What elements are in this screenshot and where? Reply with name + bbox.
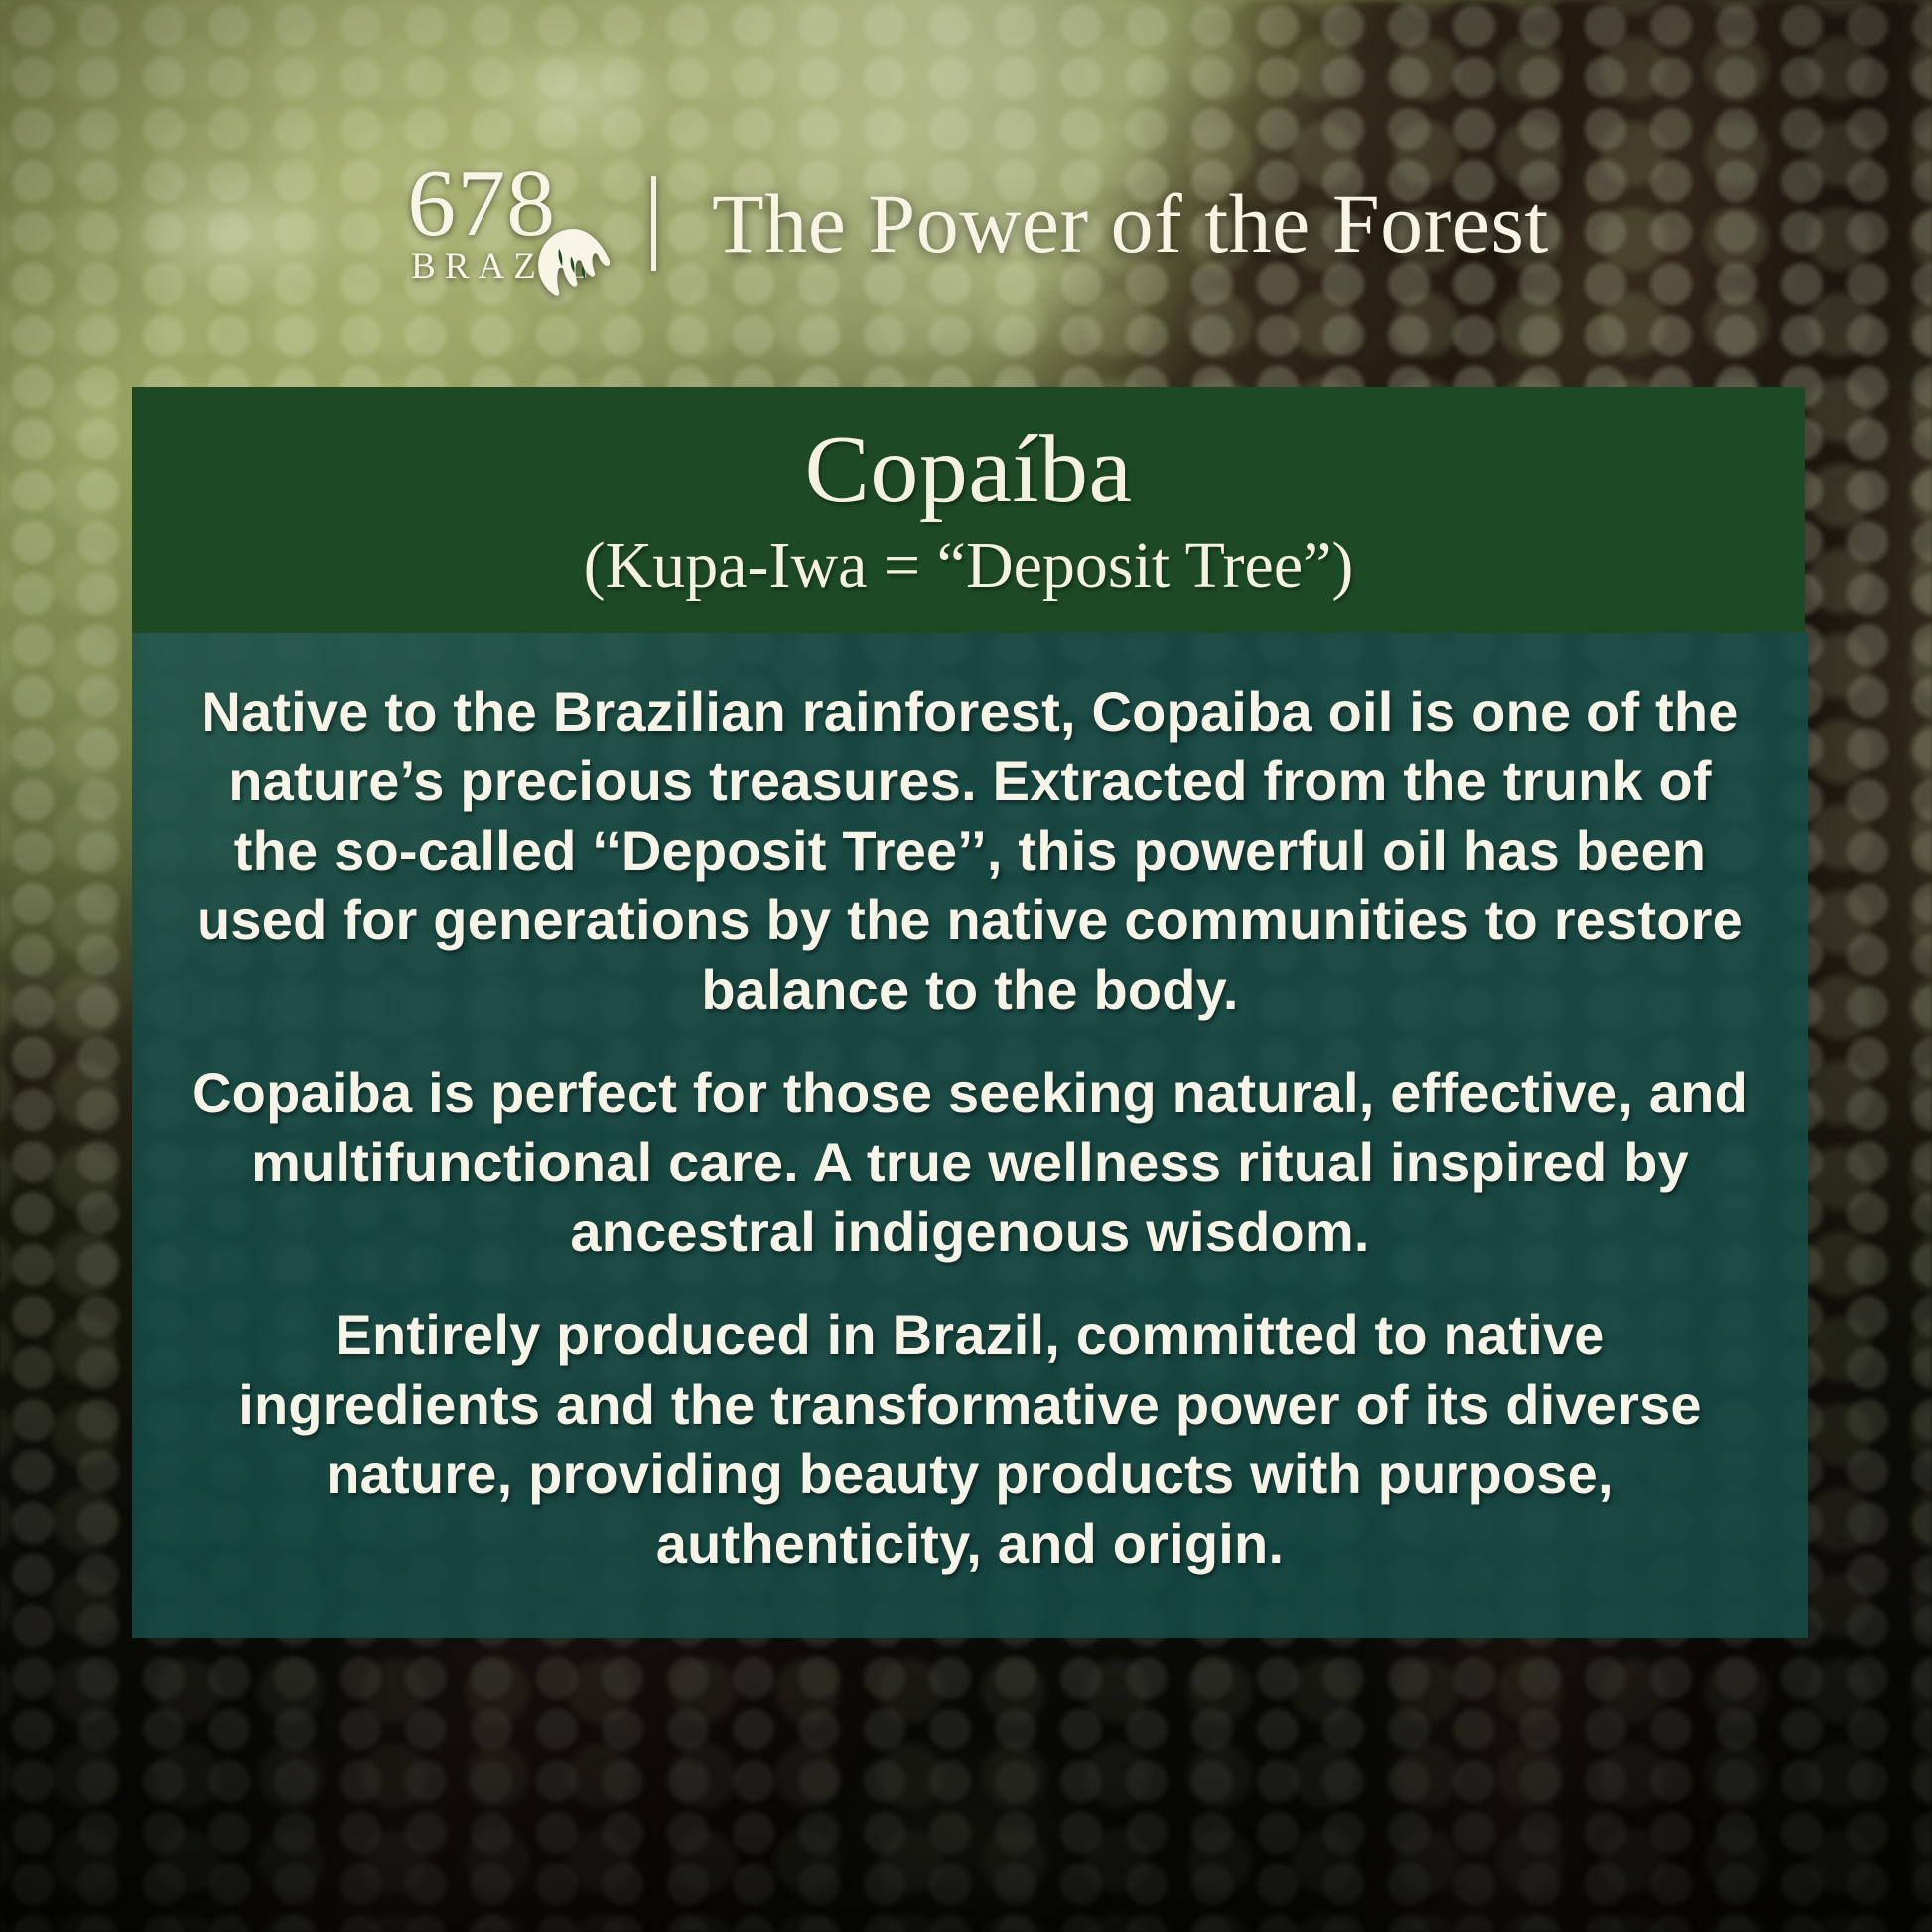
card-title: Copaíba — [132, 421, 1805, 520]
body-paragraph: Copaiba is perfect for those seeking nat… — [184, 1058, 1756, 1267]
card-body: Native to the Brazilian rainforest, Copa… — [132, 633, 1808, 1638]
content-card: Copaíba (Kupa-Iwa = “Deposit Tree”) Nati… — [132, 387, 1808, 1638]
brand-logo: 678 BRAZIL — [383, 149, 631, 298]
header-divider — [651, 176, 656, 271]
body-paragraph: Native to the Brazilian rainforest, Copa… — [184, 677, 1756, 1025]
card-subtitle: (Kupa-Iwa = “Deposit Tree”) — [132, 528, 1805, 604]
body-paragraph: Entirely produced in Brazil, committed t… — [184, 1301, 1756, 1579]
monstera-leaf-icon — [534, 226, 610, 302]
header-title: The Power of the Forest — [712, 181, 1549, 266]
poster-header: 678 BRAZIL The Power of the Forest — [0, 149, 1932, 298]
card-header-band: Copaíba (Kupa-Iwa = “Deposit Tree”) — [132, 387, 1805, 633]
poster-canvas: 678 BRAZIL The Power of the Forest Copaí… — [0, 0, 1932, 1932]
